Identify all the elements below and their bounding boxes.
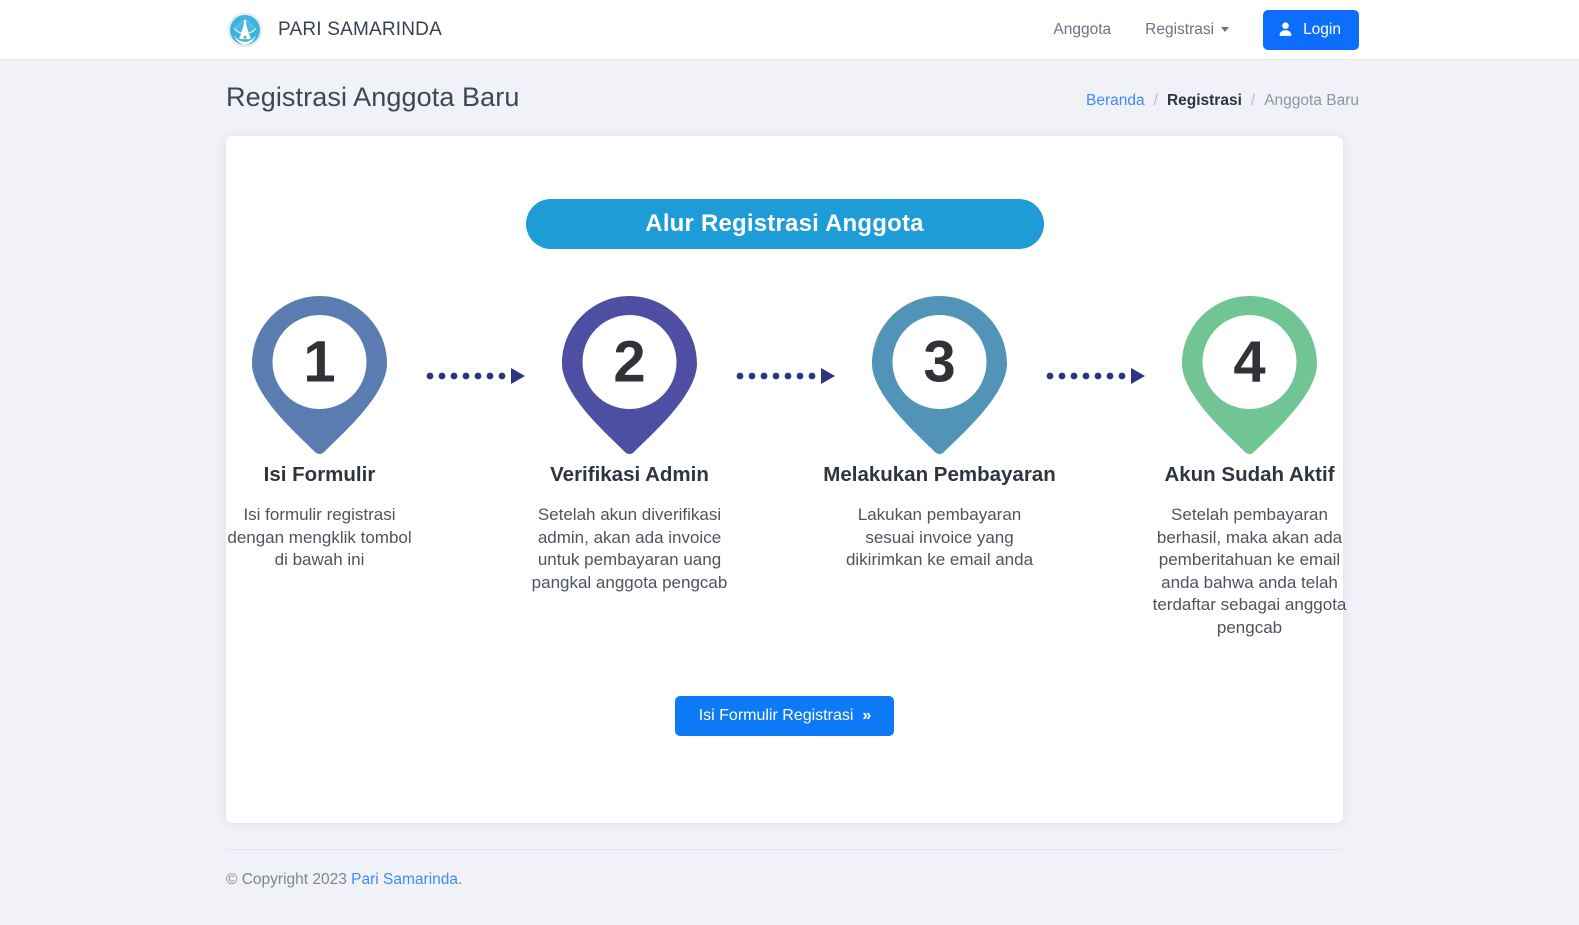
nav-links: Anggota Registrasi Login — [1053, 10, 1359, 50]
brand-name: PARI SAMARINDA — [278, 19, 442, 41]
nav-item-anggota-label: Anggota — [1053, 21, 1111, 39]
footer-link-pari-samarinda[interactable]: Pari Samarinda — [351, 871, 458, 888]
login-button-label: Login — [1303, 21, 1341, 39]
step-1: 1 Isi Formulir Isi formulir registrasi d… — [207, 291, 433, 572]
brand[interactable]: PARI SAMARINDA — [226, 11, 442, 49]
step-3: 3 Melakukan Pembayaran Lakukan pembayara… — [827, 291, 1053, 572]
map-pin-icon: 4 — [1177, 291, 1322, 456]
step-2-title: Verifikasi Admin — [550, 463, 709, 487]
connector-1-2 — [425, 291, 525, 461]
breadcrumb-item-current: Anggota Baru — [1264, 92, 1359, 110]
breadcrumb-separator: / — [1154, 92, 1158, 110]
pari-samarinda-logo-icon — [226, 11, 264, 49]
step-2-pin: 2 — [557, 291, 702, 461]
copyright-text: © Copyright 2023 — [226, 871, 351, 888]
person-icon — [1277, 21, 1294, 38]
connector-3-4 — [1045, 291, 1145, 461]
step-4-description: Setelah pembayaran berhasil, maka akan a… — [1152, 504, 1348, 640]
step-4: 4 Akun Sudah Aktif Setelah pembayaran be… — [1137, 291, 1363, 640]
step-1-title: Isi Formulir — [264, 463, 376, 487]
nav-item-registrasi[interactable]: Registrasi — [1145, 21, 1229, 39]
breadcrumb-item-beranda[interactable]: Beranda — [1086, 92, 1145, 110]
nav-item-registrasi-label: Registrasi — [1145, 21, 1214, 39]
step-4-number: 4 — [1233, 330, 1265, 395]
step-2: 2 Verifikasi Admin Setelah akun diverifi… — [517, 291, 743, 594]
map-pin-icon: 2 — [557, 291, 702, 456]
cta-row: Isi Formulir Registrasi » — [226, 696, 1343, 736]
isi-formulir-registrasi-button[interactable]: Isi Formulir Registrasi » — [675, 696, 895, 736]
breadcrumb-item-registrasi[interactable]: Registrasi — [1167, 92, 1242, 110]
step-1-number: 1 — [303, 330, 335, 395]
breadcrumb-separator: / — [1251, 92, 1255, 110]
step-4-title: Akun Sudah Aktif — [1164, 463, 1334, 487]
chevron-down-icon — [1221, 27, 1229, 32]
map-pin-icon: 1 — [247, 291, 392, 456]
login-button[interactable]: Login — [1263, 10, 1359, 50]
steps-container: 1 Isi Formulir Isi formulir registrasi d… — [226, 291, 1343, 640]
dotted-arrow-icon — [1045, 368, 1145, 384]
map-pin-icon: 3 — [867, 291, 1012, 456]
footer: © Copyright 2023 Pari Samarinda. — [226, 849, 1343, 889]
flow-banner: Alur Registrasi Anggota — [526, 199, 1044, 249]
step-1-description: Isi formulir registrasi dengan mengklik … — [222, 504, 418, 572]
step-2-number: 2 — [613, 330, 645, 395]
step-3-number: 3 — [923, 330, 955, 395]
page-header: Registrasi Anggota Baru Beranda / Regist… — [0, 60, 1579, 113]
step-1-pin: 1 — [247, 291, 392, 461]
nav-item-anggota[interactable]: Anggota — [1053, 21, 1111, 39]
double-chevron-right-icon: » — [862, 707, 870, 725]
cta-button-label: Isi Formulir Registrasi — [699, 707, 854, 725]
step-3-description: Lakukan pembayaran sesuai invoice yang d… — [842, 504, 1038, 572]
step-3-pin: 3 — [867, 291, 1012, 461]
top-navbar: PARI SAMARINDA Anggota Registrasi Login — [0, 0, 1579, 60]
flow-banner-label: Alur Registrasi Anggota — [645, 210, 923, 238]
dotted-arrow-icon — [735, 368, 835, 384]
registration-flow-card: Alur Registrasi Anggota 1 Isi Formulir I… — [226, 136, 1343, 823]
dotted-arrow-icon — [425, 368, 525, 384]
page-title: Registrasi Anggota Baru — [226, 82, 519, 113]
connector-2-3 — [735, 291, 835, 461]
step-4-pin: 4 — [1177, 291, 1322, 461]
breadcrumb: Beranda / Registrasi / Anggota Baru — [1086, 86, 1359, 110]
copyright-suffix: . — [458, 871, 462, 888]
step-3-title: Melakukan Pembayaran — [823, 463, 1055, 487]
step-2-description: Setelah akun diverifikasi admin, akan ad… — [532, 504, 728, 594]
